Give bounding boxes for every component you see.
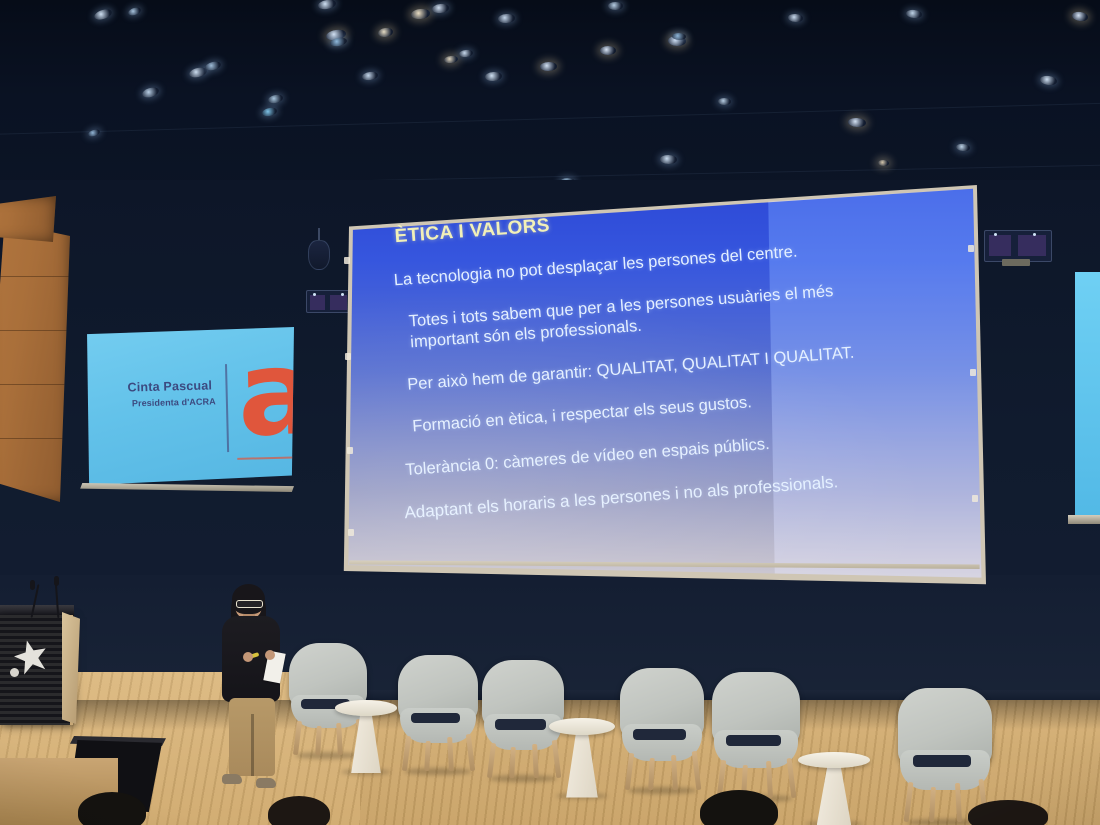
ceiling-light-icon	[93, 7, 113, 21]
screen-tab	[345, 353, 351, 360]
presenter-leg-split	[251, 714, 254, 776]
ceiling-light-icon	[878, 160, 889, 167]
ceiling-light-icon	[1039, 75, 1057, 86]
speaker-role: Presidenta d'ACRA	[132, 396, 216, 408]
microphone-head-icon	[30, 580, 35, 590]
chair-leg	[648, 758, 655, 790]
stage-chair	[898, 688, 992, 822]
side-table	[549, 718, 615, 796]
table-top	[335, 700, 397, 716]
secondary-screen-surface: a Cinta Pascual Presidenta d'ACRA	[86, 327, 294, 485]
side-table	[798, 752, 870, 824]
slide-content: ÈTICA I VALORS La tecnologia no pot desp…	[384, 187, 966, 556]
ceiling-light-icon	[1071, 11, 1088, 22]
chair-leg	[929, 787, 936, 822]
chair-leg	[293, 721, 302, 755]
table-base	[351, 712, 381, 774]
screen-tab	[348, 529, 354, 536]
chair-leg	[447, 737, 454, 771]
chair-shadow	[404, 768, 471, 775]
ceiling-light-icon	[432, 3, 450, 14]
auditorium-scene: a Cinta Pascual Presidenta d'ACRA ÈTICA …	[0, 0, 1100, 825]
chair-leg	[787, 758, 797, 799]
table-base	[817, 764, 852, 825]
chair-leg	[692, 751, 702, 790]
ceiling-speaker-icon	[308, 240, 330, 270]
table-base	[566, 730, 598, 797]
speaker-name: Cinta Pascual	[127, 378, 212, 394]
stage-chair	[712, 672, 800, 798]
slide-divider	[225, 364, 229, 452]
right-edge-display-base	[1068, 515, 1100, 524]
ceiling-light-icon	[261, 107, 277, 118]
ceiling-light-icon	[660, 155, 677, 165]
ceiling-light-icon	[362, 71, 379, 81]
presenter-hand-left	[243, 652, 253, 662]
chair-gap	[913, 755, 971, 767]
ceiling-light-icon	[267, 94, 283, 105]
table-top	[798, 752, 870, 768]
screen-tab	[968, 245, 974, 252]
ceiling-light-icon	[317, 0, 336, 10]
ceiling-light-icon	[204, 60, 221, 72]
chair-leg	[509, 747, 516, 778]
presenter-person	[216, 588, 290, 812]
chair-leg	[486, 742, 495, 778]
presenter-shoe-right	[256, 778, 276, 788]
ceiling-light-icon	[600, 46, 616, 55]
ceiling-light-icon	[608, 2, 623, 10]
acoustic-wood-panel	[0, 222, 70, 502]
ceiling-light-icon	[127, 6, 142, 17]
screen-tab	[344, 257, 350, 264]
stage-chair	[398, 655, 478, 771]
secondary-projection-screen: a Cinta Pascual Presidenta d'ACRA	[86, 327, 294, 485]
ceiling-light-icon	[141, 86, 160, 99]
audience-head	[968, 800, 1048, 825]
ceiling-light-icon	[459, 49, 474, 57]
chair-gap	[726, 735, 781, 746]
ceiling-light-icon	[848, 117, 867, 127]
ceiling-light-icon	[377, 27, 393, 38]
chair-leg	[466, 734, 475, 771]
ceiling-light-icon	[485, 71, 503, 81]
stage-chair	[620, 668, 704, 790]
ceiling-light-icon	[411, 8, 431, 20]
side-table	[335, 700, 397, 772]
ceiling-light-icon	[788, 13, 804, 22]
chair-gap	[495, 719, 546, 730]
screen-tab	[347, 447, 353, 454]
chair-leg	[625, 753, 634, 790]
chair-leg	[903, 782, 913, 822]
screen-tab	[970, 369, 976, 376]
ceiling-light-icon	[718, 98, 731, 105]
chair-leg	[315, 726, 322, 755]
presenter-shoe-left	[222, 774, 242, 784]
ceiling-light-icon	[87, 128, 100, 137]
acoustic-wood-panel-upper	[0, 196, 56, 242]
chair-gap	[411, 713, 461, 723]
wall-display-right-mount	[1002, 259, 1030, 266]
presenter-hand-right	[265, 650, 275, 660]
chair-leg	[402, 736, 411, 771]
ceiling-light-icon	[444, 55, 459, 63]
ceiling-light-icon	[498, 13, 516, 23]
glasses-icon	[236, 600, 263, 608]
ceiling-light-icon	[540, 62, 557, 72]
ceiling-light-icon	[672, 33, 686, 40]
chair-shadow	[627, 787, 698, 794]
chair-gap	[633, 729, 685, 740]
right-edge-display	[1075, 272, 1100, 517]
chair-leg	[424, 741, 431, 771]
ceiling-light-icon	[906, 9, 923, 19]
ceiling-light-icon	[956, 143, 971, 151]
table-top	[549, 718, 615, 735]
audience-head	[78, 792, 146, 825]
audience-head	[268, 796, 330, 825]
screen-tab	[972, 495, 978, 502]
microphone-head-icon	[54, 576, 59, 586]
presenter-hair	[232, 584, 265, 614]
wall-display-right	[984, 230, 1052, 262]
star-logo-dot-icon	[10, 668, 19, 677]
chair-shadow	[489, 775, 558, 782]
main-projection-screen: ÈTICA I VALORS La tecnologia no pot desp…	[336, 185, 986, 600]
